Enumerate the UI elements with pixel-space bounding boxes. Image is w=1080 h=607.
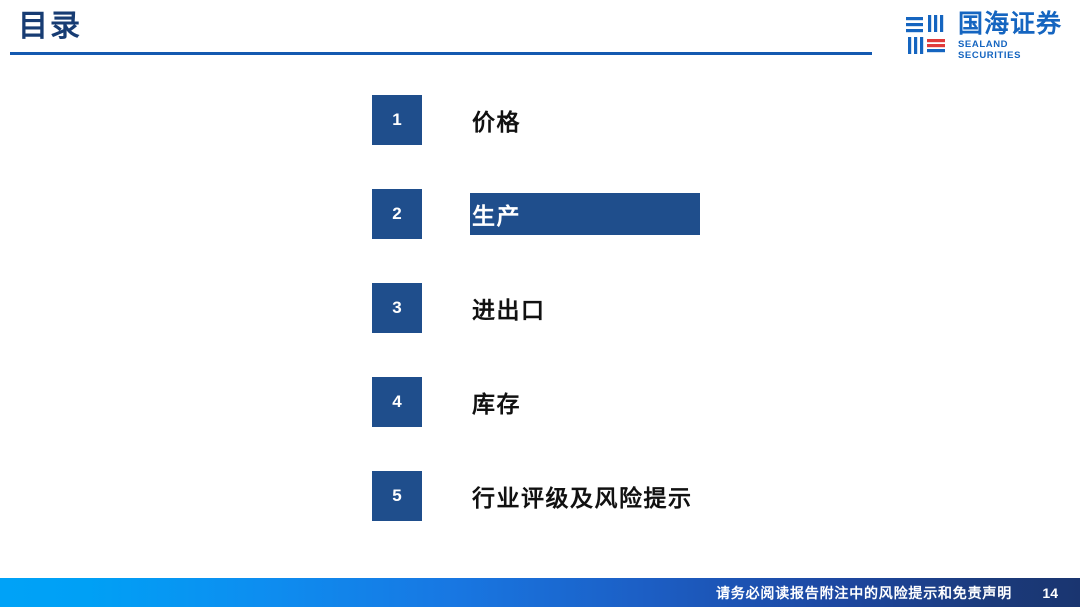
logo-english-name: SEALAND SECURITIES bbox=[958, 39, 1073, 61]
toc-item-5[interactable]: 5 行业评级及风险提示 bbox=[372, 471, 1012, 521]
toc-item-2[interactable]: 2 生产 bbox=[372, 189, 1012, 239]
toc-item-4[interactable]: 4 库存 bbox=[372, 377, 1012, 427]
toc-number-badge: 1 bbox=[372, 95, 422, 145]
logo-text-block: 国海证券 SEALAND SECURITIES bbox=[958, 11, 1073, 61]
toc-number-badge: 4 bbox=[372, 377, 422, 427]
toc-label: 进出口 bbox=[470, 291, 546, 325]
company-logo: 国海证券 SEALAND SECURITIES bbox=[905, 10, 1073, 62]
logo-chinese-name: 国海证券 bbox=[958, 11, 1073, 37]
toc-label: 生产 bbox=[470, 197, 521, 231]
toc-label: 库存 bbox=[470, 385, 521, 419]
slide-contents-page: 目录 国海证券 SEALAND SECURITIES 1 价格 bbox=[0, 0, 1080, 607]
toc-label-container: 价格 bbox=[470, 99, 521, 141]
header-divider bbox=[10, 52, 872, 55]
toc-number-badge: 5 bbox=[372, 471, 422, 521]
toc-item-1[interactable]: 1 价格 bbox=[372, 95, 1012, 145]
toc-label: 价格 bbox=[470, 103, 521, 137]
toc-number-badge: 2 bbox=[372, 189, 422, 239]
slide-footer: 请务必阅读报告附注中的风险提示和免责声明 14 bbox=[0, 578, 1080, 607]
toc-label: 行业评级及风险提示 bbox=[470, 479, 693, 513]
sealand-weave-emblem-icon bbox=[905, 14, 949, 58]
toc-label-container: 行业评级及风险提示 bbox=[470, 475, 693, 517]
toc-label-container: 库存 bbox=[470, 381, 521, 423]
toc-label-container-highlighted: 生产 bbox=[470, 193, 700, 235]
disclaimer-text: 请务必阅读报告附注中的风险提示和免责声明 bbox=[716, 583, 1012, 603]
page-title: 目录 bbox=[18, 12, 82, 42]
toc-label-container: 进出口 bbox=[470, 287, 546, 329]
page-number: 14 bbox=[1038, 585, 1058, 601]
toc-item-3[interactable]: 3 进出口 bbox=[372, 283, 1012, 333]
toc-number-badge: 3 bbox=[372, 283, 422, 333]
table-of-contents: 1 价格 2 生产 3 进出口 4 库存 5 行业评级及风 bbox=[372, 95, 1012, 521]
